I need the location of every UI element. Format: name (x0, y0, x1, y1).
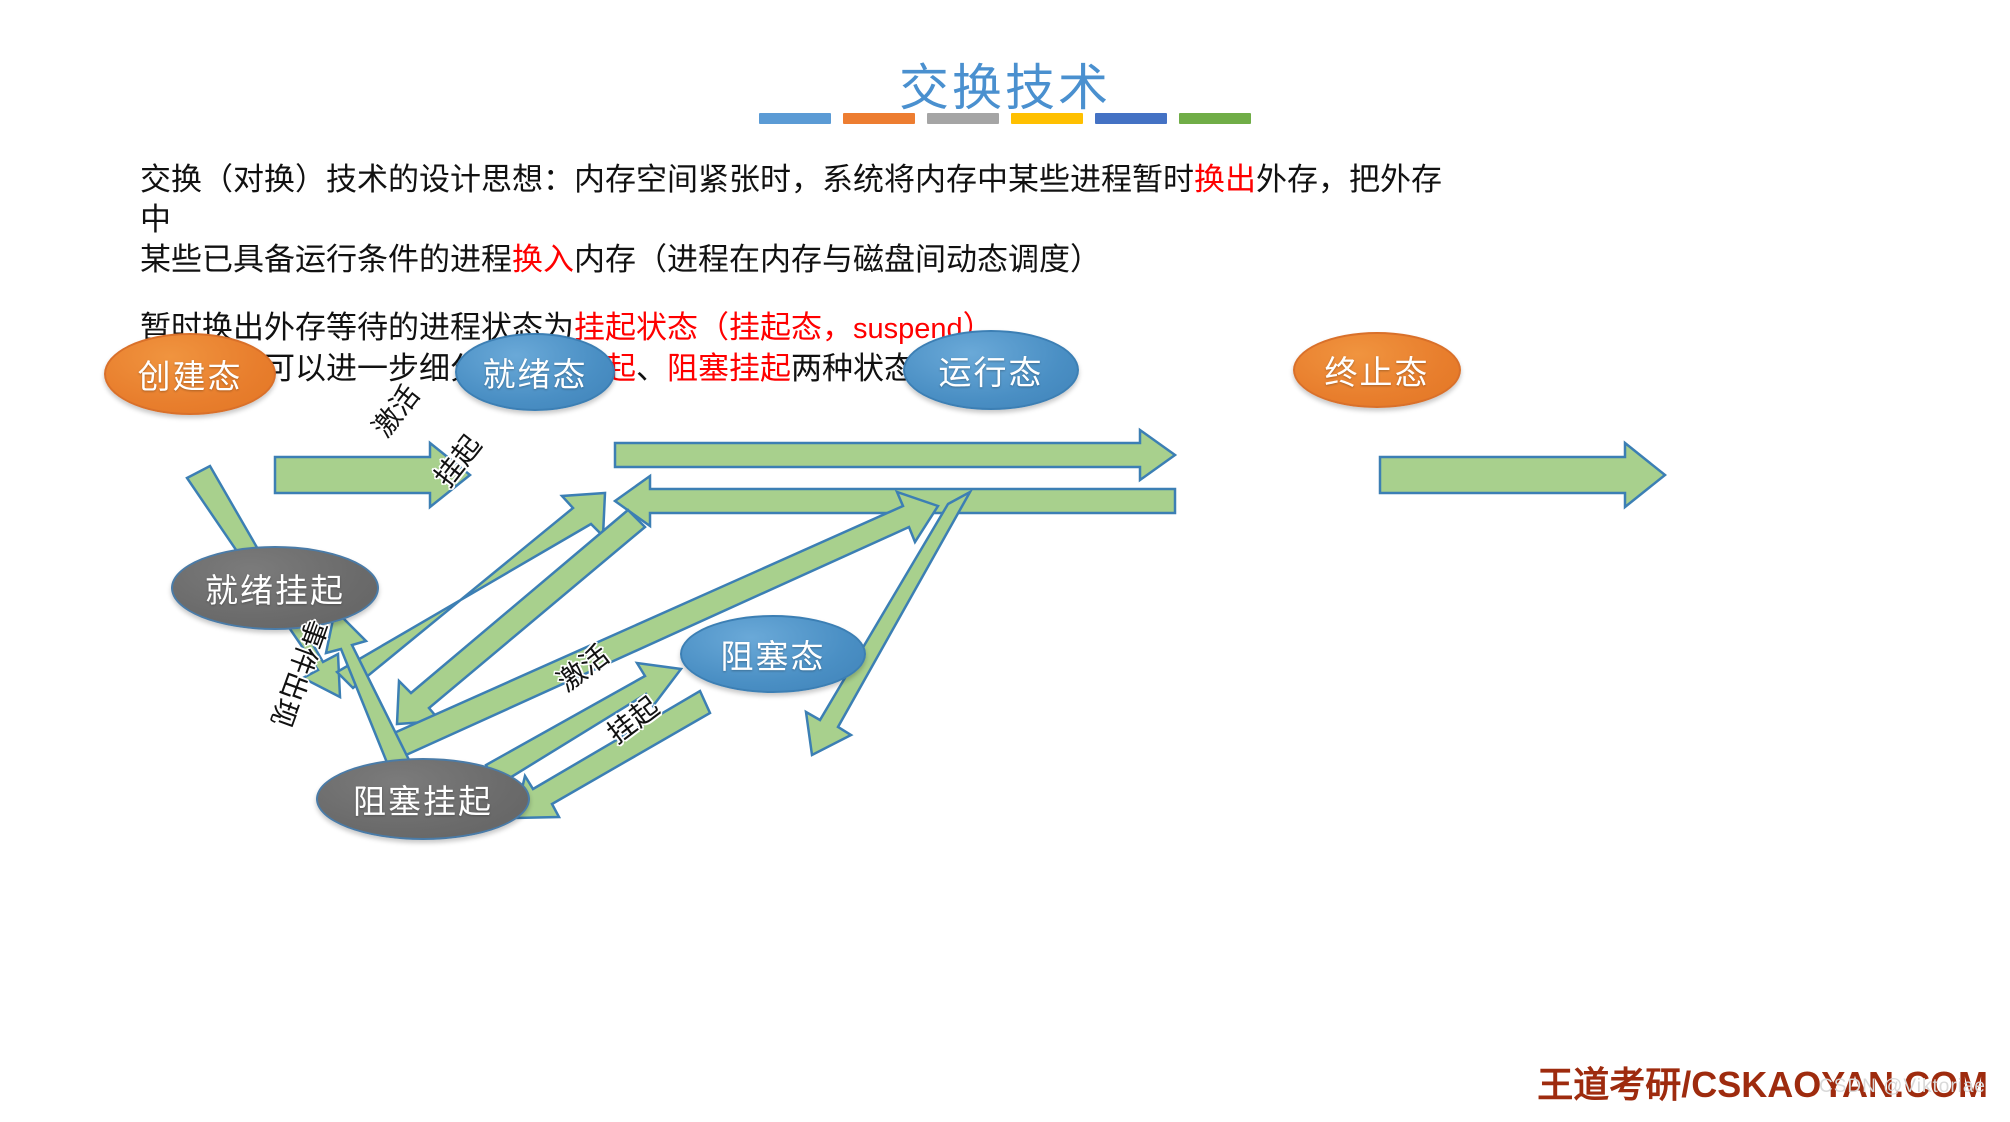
node-label-blocked-suspend: 阻塞挂起 (353, 775, 493, 823)
csdn-watermark: CSDN @Viktoriae (1819, 1076, 1986, 1098)
node-label-ready-suspend: 就绪挂起 (205, 564, 345, 612)
node-ready-suspend-state[interactable]: 就绪挂起 (171, 546, 379, 630)
node-label-terminated: 终止态 (1325, 346, 1430, 394)
node-label-blocked: 阻塞态 (721, 630, 826, 678)
state-transition-diagram: .ar{fill:#a8d08d;stroke:#3c7fb4;stroke-w… (0, 0, 2010, 1122)
node-create-state[interactable]: 创建态 (104, 333, 276, 415)
slide-canvas: 交换技术 交换（对换）技术的设计思想：内存空间紧张时，系统将内存中某些进程暂时换… (0, 0, 2010, 1122)
node-label-running: 运行态 (939, 346, 1044, 394)
node-ready-state[interactable]: 就绪态 (455, 333, 615, 411)
node-running-state[interactable]: 运行态 (903, 330, 1079, 410)
node-label-create: 创建态 (138, 350, 243, 398)
node-blocked-state[interactable]: 阻塞态 (680, 615, 866, 693)
edge-running-to-terminated (1380, 443, 1665, 507)
node-label-ready: 就绪态 (483, 348, 588, 396)
node-blocked-suspend-state[interactable]: 阻塞挂起 (316, 758, 530, 840)
edge-ready-to-running (615, 430, 1175, 480)
node-terminated-state[interactable]: 终止态 (1293, 332, 1461, 408)
